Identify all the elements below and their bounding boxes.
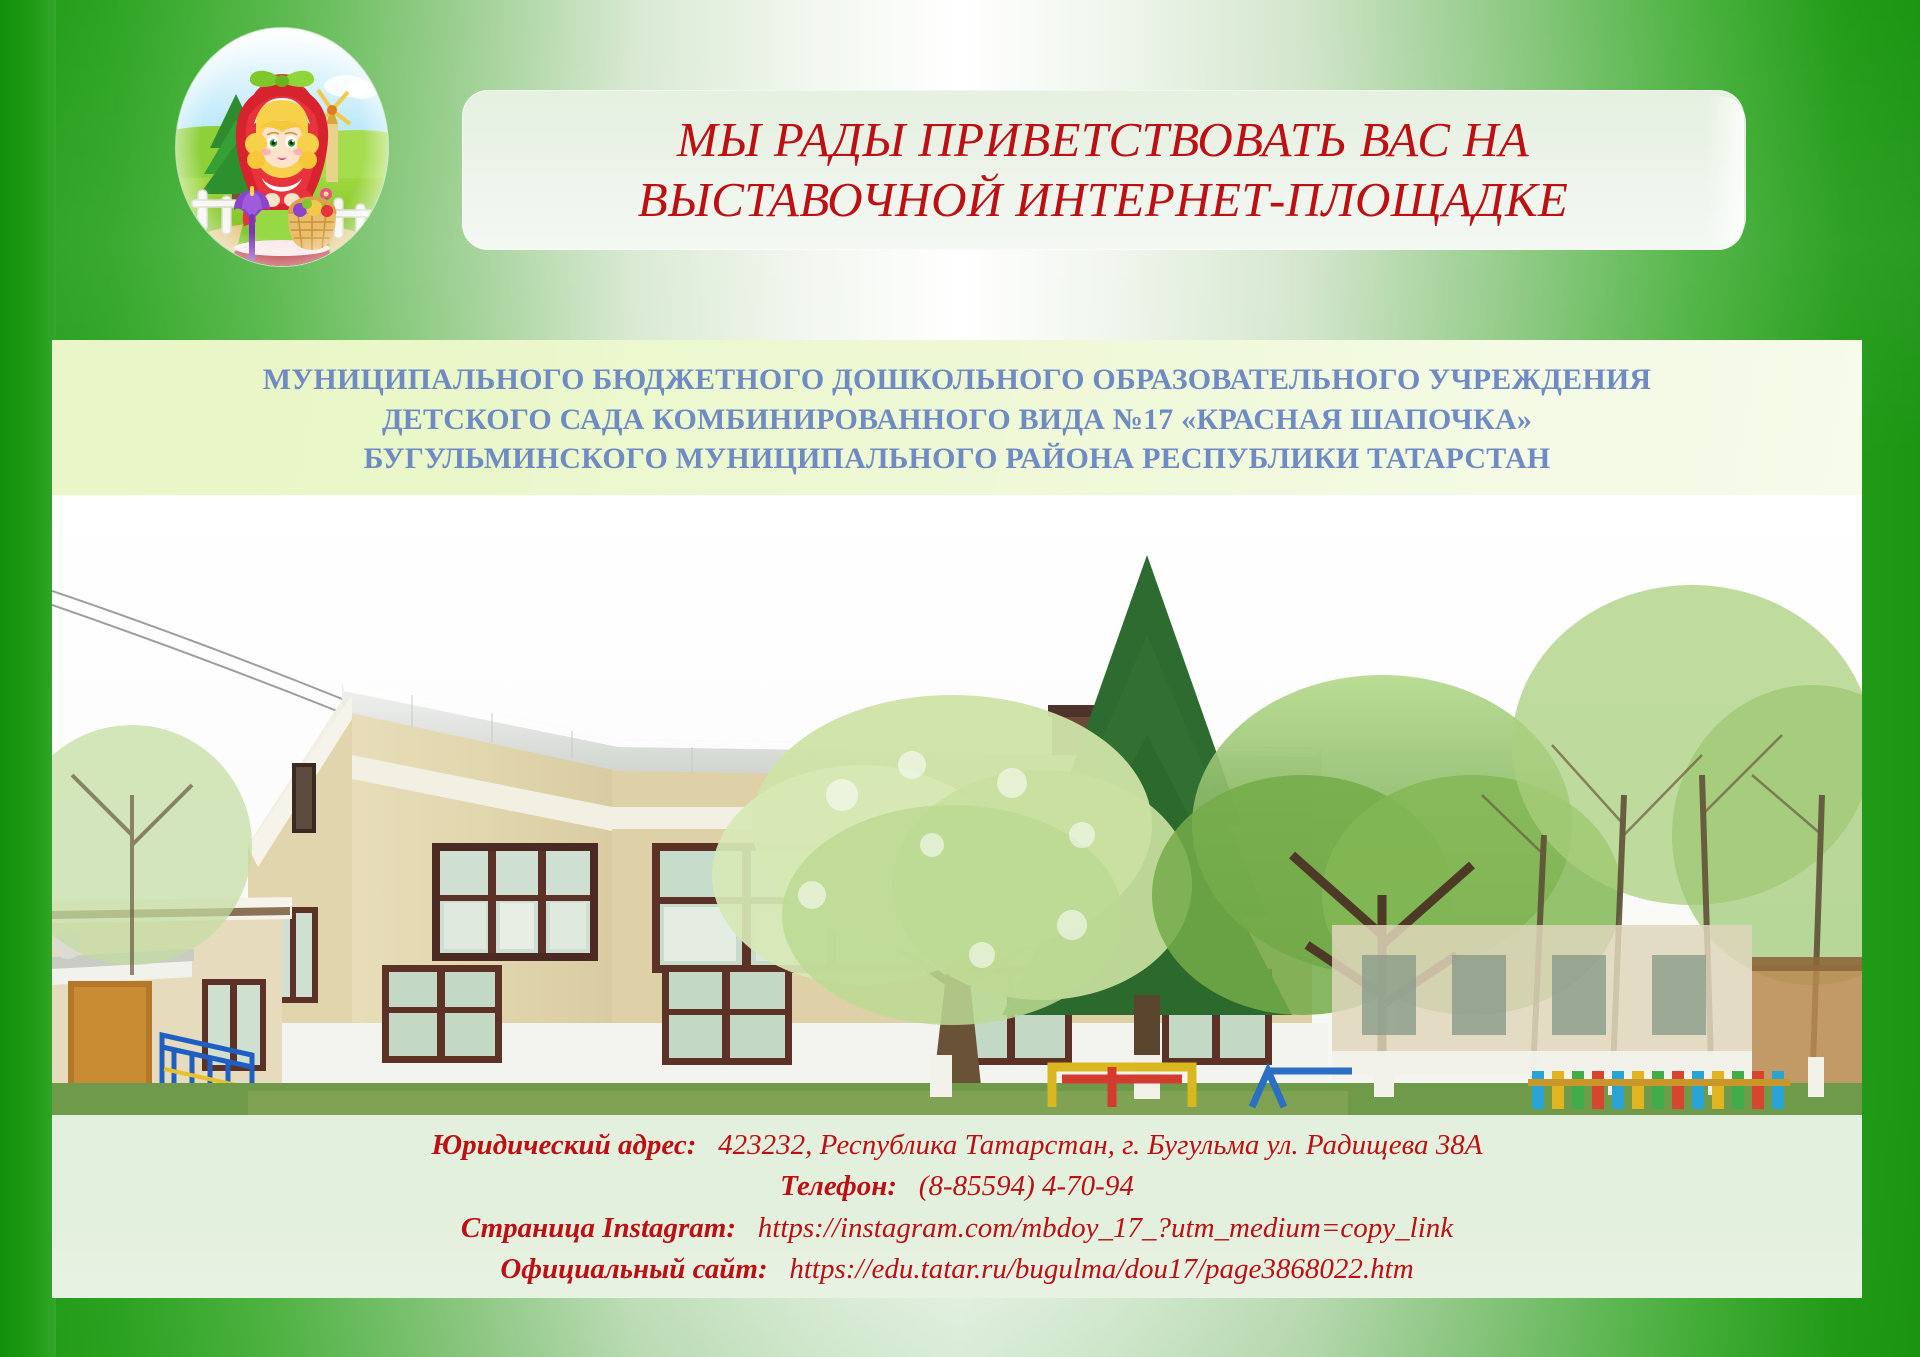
contact-phone-row: Телефон: (8-85594) 4-70-94 [780, 1166, 1134, 1207]
welcome-banner: МЫ РАДЫ ПРИВЕТСТВОВАТЬ ВАС НА ВЫСТАВОЧНО… [462, 90, 1744, 250]
content-panel: МУНИЦИПАЛЬНОГО БЮДЖЕТНОГО ДОШКОЛЬНОГО ОБ… [52, 340, 1862, 1298]
institution-name-line-1: МУНИЦИПАЛЬНОГО БЮДЖЕТНОГО ДОШКОЛЬНОГО ОБ… [263, 360, 1652, 400]
kindergarten-logo [176, 28, 388, 266]
institution-name-line-3: БУГУЛЬМИНСКОГО МУНИЦИПАЛЬНОГО РАЙОНА РЕС… [364, 439, 1551, 479]
institution-name-line-2: ДЕТСКОГО САДА КОМБИНИРОВАННОГО ВИДА №17 … [382, 400, 1532, 440]
building-photo [52, 495, 1862, 1115]
building-photo-illustration [52, 495, 1862, 1115]
contact-instagram-value[interactable]: https://instagram.com/mbdoy_17_?utm_medi… [758, 1212, 1453, 1244]
left-green-border [0, 0, 56, 1357]
contact-instagram-row: Страница Instagram: https://instagram.co… [461, 1208, 1453, 1249]
contact-phone-label: Телефон: [780, 1170, 897, 1202]
contact-phone-value: (8-85594) 4-70-94 [919, 1170, 1134, 1202]
contact-info: Юридический адрес: 423232, Республика Та… [52, 1115, 1862, 1298]
contact-website-label: Официальный сайт: [500, 1253, 767, 1285]
welcome-title: МЫ РАДЫ ПРИВЕТСТВОВАТЬ ВАС НА ВЫСТАВОЧНО… [608, 110, 1598, 230]
contact-address-value: 423232, Республика Татарстан, г. Бугульм… [718, 1129, 1482, 1161]
red-riding-hood-icon [176, 28, 388, 266]
institution-name-banner: МУНИЦИПАЛЬНОГО БЮДЖЕТНОГО ДОШКОЛЬНОГО ОБ… [52, 340, 1862, 495]
contact-instagram-label: Страница Instagram: [461, 1212, 736, 1244]
contact-address-label: Юридический адрес: [431, 1129, 696, 1161]
contact-website-row: Официальный сайт: https://edu.tatar.ru/b… [500, 1249, 1413, 1290]
contact-address-row: Юридический адрес: 423232, Республика Та… [431, 1125, 1482, 1166]
poster-root: МЫ РАДЫ ПРИВЕТСТВОВАТЬ ВАС НА ВЫСТАВОЧНО… [0, 0, 1920, 1357]
contact-website-value[interactable]: https://edu.tatar.ru/bugulma/dou17/page3… [789, 1253, 1413, 1285]
